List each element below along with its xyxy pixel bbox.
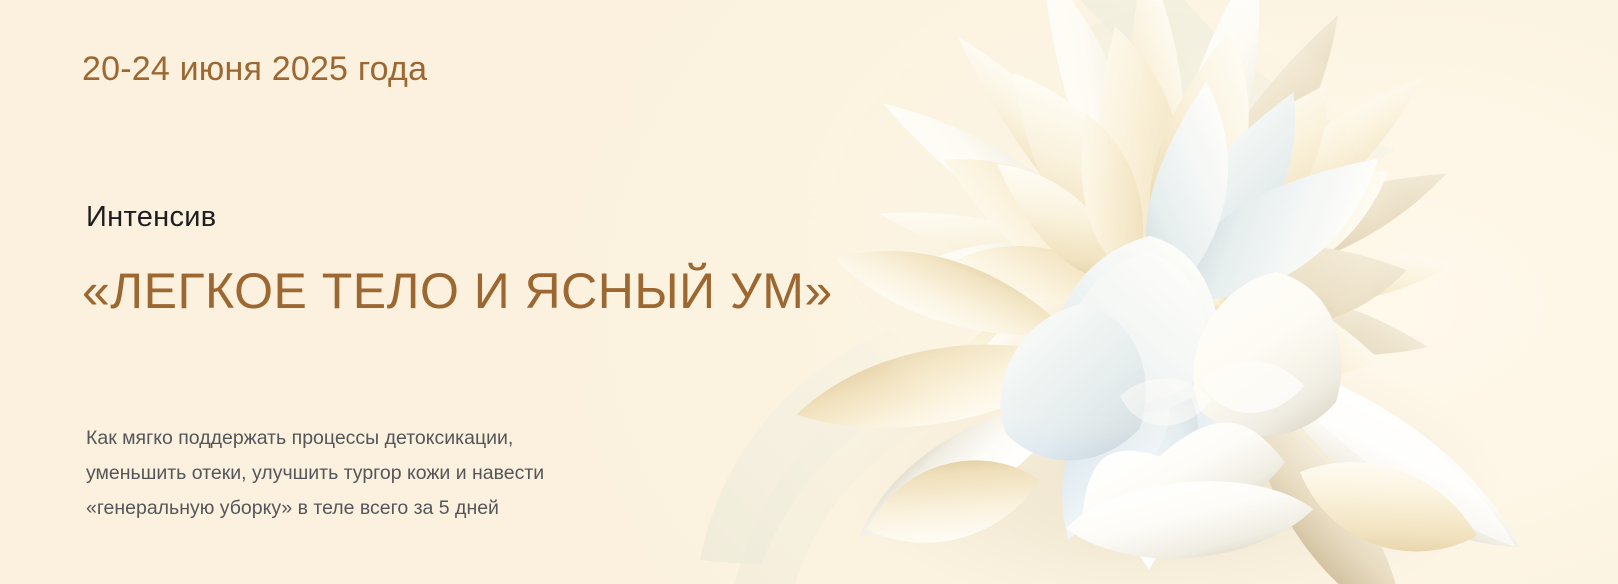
promo-banner: 20-24 июня 2025 года Интенсив «ЛЕГКОЕ ТЕ… <box>0 0 1618 584</box>
lotus-flower-image <box>700 0 1618 584</box>
page-title: «ЛЕГКОЕ ТЕЛО И ЯСНЫЙ УМ» <box>82 262 833 320</box>
banner-content: 20-24 июня 2025 года Интенсив «ЛЕГКОЕ ТЕ… <box>82 0 822 584</box>
event-description: Как мягко поддержать процессы детоксикац… <box>86 421 746 526</box>
event-date: 20-24 июня 2025 года <box>82 50 427 89</box>
description-line-2: уменьшить отеки, улучшить тургор кожи и … <box>86 456 746 491</box>
description-line-3: «генеральную уборку» в теле всего за 5 д… <box>86 491 746 526</box>
description-line-1: Как мягко поддержать процессы детоксикац… <box>86 421 746 456</box>
event-type-label: Интенсив <box>86 201 216 234</box>
